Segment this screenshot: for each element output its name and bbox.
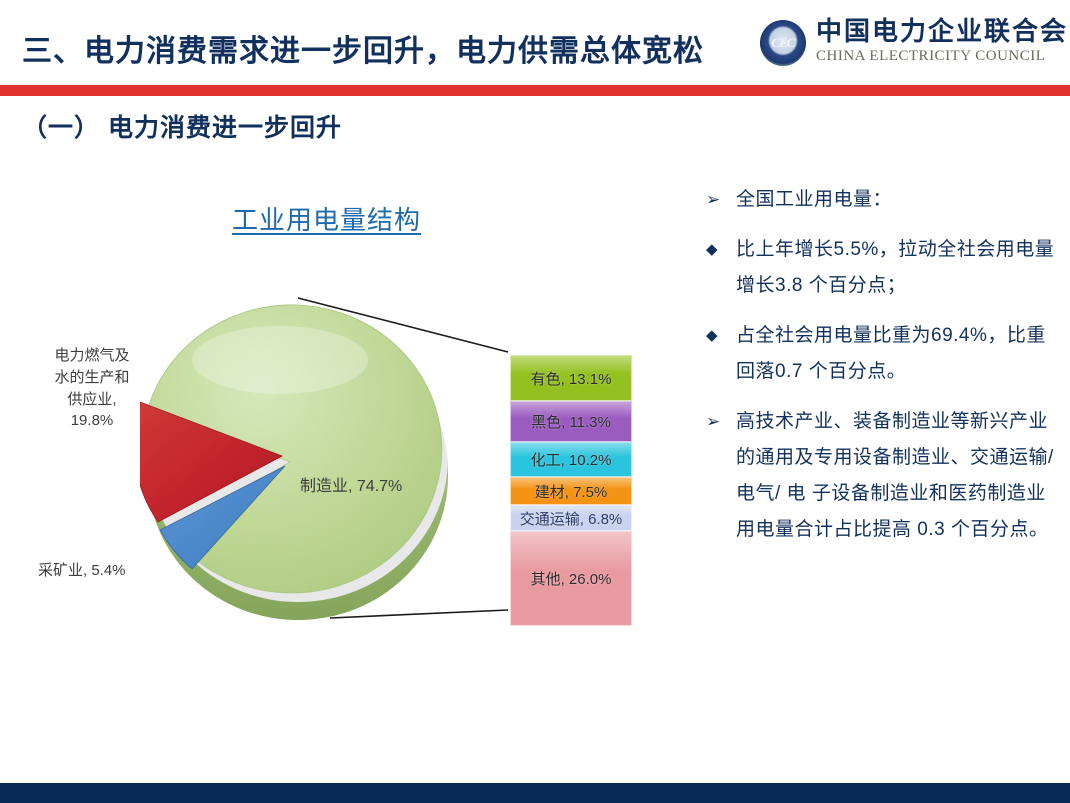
- bar-segment-label: 建材, 7.5%: [535, 481, 608, 502]
- header-divider: [0, 85, 1070, 96]
- footer-bar: [0, 783, 1070, 803]
- bar-segment-other: 其他, 26.0%: [510, 531, 632, 626]
- bullet-item: ◆ 占全社会用电量比重为69.4%，比重回落0.7 个百分点。: [706, 318, 1058, 390]
- breakout-stacked-bar: 有色, 13.1% 黑色, 11.3% 化工, 10.2% 建材, 7.5% 交…: [510, 355, 632, 626]
- arrow-bullet-icon: ➢: [706, 404, 736, 440]
- cec-seal-icon: [760, 20, 806, 66]
- brand-logo: 中国电力企业联合会 CHINA ELECTRICITY COUNCIL: [760, 18, 1068, 66]
- bullet-item: ➢ 全国工业用电量：: [706, 182, 1058, 218]
- bullet-text: 全国工业用电量：: [736, 182, 1058, 218]
- pie-label-power-line1: 电力燃气及: [28, 345, 156, 367]
- page-title: 三、电力消费需求进一步回升，电力供需总体宽松: [22, 26, 704, 70]
- bullet-text: 高技术产业、装备制造业等新兴产业的通用及专用设备制造业、交通运输/电气/ 电 子…: [736, 404, 1058, 548]
- bar-segment-ferrous: 黑色, 11.3%: [510, 401, 632, 442]
- arrow-bullet-icon: ➢: [706, 182, 736, 218]
- diamond-bullet-icon: ◆: [706, 232, 736, 268]
- bar-segment-label: 黑色, 11.3%: [531, 411, 611, 432]
- chart-title: 工业用电量结构: [232, 200, 421, 237]
- bullet-item: ➢ 高技术产业、装备制造业等新兴产业的通用及专用设备制造业、交通运输/电气/ 电…: [706, 404, 1058, 548]
- pie-chart: [140, 290, 450, 620]
- bar-segment-building-materials: 建材, 7.5%: [510, 477, 632, 505]
- bar-segment-nonferrous: 有色, 13.1%: [510, 355, 632, 401]
- bullet-item: ◆ 比上年增长5.5%，拉动全社会用电量增长3.8 个百分点；: [706, 232, 1058, 304]
- pie-label-power-line3: 供应业,: [28, 389, 156, 411]
- section-subtitle: （一） 电力消费进一步回升: [22, 108, 342, 144]
- bar-segment-label: 有色, 13.1%: [531, 368, 612, 389]
- brand-name-en: CHINA ELECTRICITY COUNCIL: [816, 48, 1068, 65]
- brand-name-cn: 中国电力企业联合会: [816, 18, 1068, 45]
- bar-segment-label: 其他, 26.0%: [531, 568, 612, 589]
- pie-label-power: 电力燃气及 水的生产和 供应业, 19.8%: [28, 345, 156, 432]
- bar-segment-label: 化工, 10.2%: [531, 449, 612, 470]
- chart-panel: 工业用电量结构: [0, 170, 680, 690]
- pie-label-manufacturing: 制造业, 74.7%: [300, 475, 402, 498]
- brand-text: 中国电力企业联合会 CHINA ELECTRICITY COUNCIL: [816, 18, 1068, 65]
- pie-label-power-line2: 水的生产和: [28, 367, 156, 389]
- bar-segment-label: 交通运输, 6.8%: [520, 508, 623, 529]
- bullet-text: 比上年增长5.5%，拉动全社会用电量增长3.8 个百分点；: [736, 232, 1058, 304]
- bar-segment-transport: 交通运输, 6.8%: [510, 505, 632, 531]
- diamond-bullet-icon: ◆: [706, 318, 736, 354]
- bullet-panel: ➢ 全国工业用电量： ◆ 比上年增长5.5%，拉动全社会用电量增长3.8 个百分…: [706, 182, 1058, 562]
- bar-segment-chemical: 化工, 10.2%: [510, 442, 632, 477]
- pie-label-mining: 采矿业, 5.4%: [38, 560, 126, 582]
- slide-header: 三、电力消费需求进一步回升，电力供需总体宽松 中国电力企业联合会 CHINA E…: [0, 0, 1070, 96]
- pie-label-power-line4: 19.8%: [28, 410, 156, 432]
- bullet-text: 占全社会用电量比重为69.4%，比重回落0.7 个百分点。: [736, 318, 1058, 390]
